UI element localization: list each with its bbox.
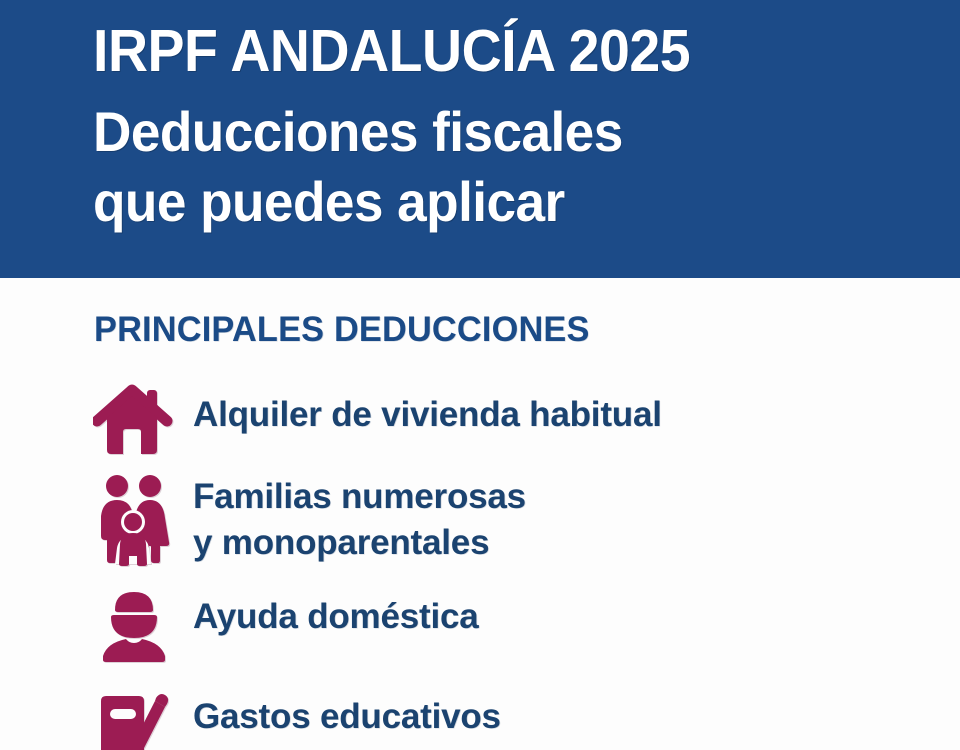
deductions-section: PRINCIPALES DEDUCCIONES Alquiler de vivi…	[0, 278, 960, 750]
list-item: Ayuda doméstica	[0, 574, 960, 668]
header-text-block: IRPF ANDALUCÍA 2025 Deducciones fiscales…	[93, 16, 920, 236]
domestic-worker-icon	[93, 590, 175, 668]
list-item-label: Gastos educativos	[193, 678, 501, 740]
list-item-label: Ayuda doméstica	[193, 574, 479, 640]
list-item-label: Familias numerosas y monoparentales	[193, 464, 526, 566]
book-pencil-icon	[93, 692, 175, 750]
list-item-label: Alquiler de vivienda habitual	[193, 370, 662, 438]
page-title: IRPF ANDALUCÍA 2025	[93, 16, 870, 86]
header-band: IRPF ANDALUCÍA 2025 Deducciones fiscales…	[0, 0, 960, 278]
list-item: Gastos educativos	[0, 678, 960, 750]
infographic-poster: IRPF ANDALUCÍA 2025 Deducciones fiscales…	[0, 0, 960, 750]
deductions-list: Alquiler de vivienda habitual	[0, 370, 960, 750]
list-item: Familias numerosas y monoparentales	[0, 464, 960, 566]
house-icon	[93, 380, 175, 458]
page-subtitle-line-2: que puedes aplicar	[93, 168, 879, 236]
family-icon	[93, 472, 175, 550]
page-subtitle-line-1: Deducciones fiscales	[93, 98, 879, 166]
section-heading: PRINCIPALES DEDUCCIONES	[94, 310, 590, 350]
list-item: Alquiler de vivienda habitual	[0, 370, 960, 458]
